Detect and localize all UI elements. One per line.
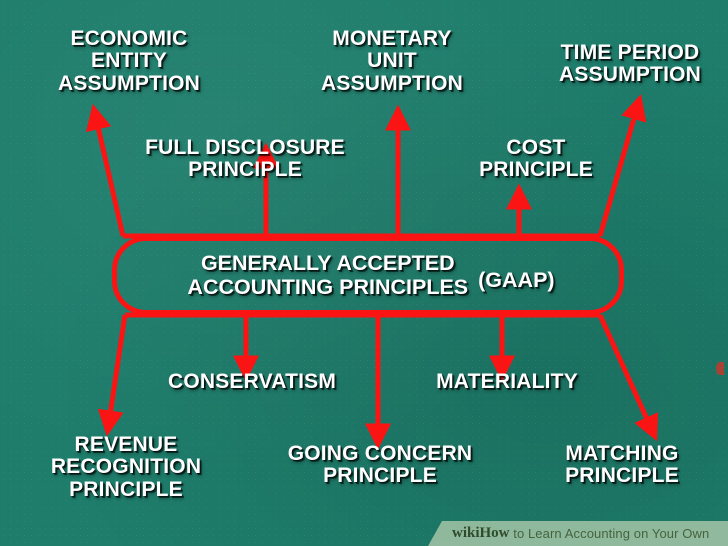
node-matching-principle: MATCHING PRINCIPLE bbox=[565, 443, 679, 488]
gaap-center-box-content: GENERALLY ACCEPTED ACCOUNTING PRINCIPLES… bbox=[112, 236, 624, 315]
wikihow-brand: wikiHow bbox=[452, 525, 510, 542]
node-going-concern-principle: GOING CONCERN PRINCIPLE bbox=[288, 443, 473, 488]
arrow-to-matching-principle bbox=[600, 315, 651, 428]
wikihow-watermark: wikiHow to Learn Accounting on Your Own bbox=[428, 521, 728, 546]
node-materiality: MATERIALITY bbox=[436, 371, 578, 393]
node-revenue-recognition-principle: REVENUE RECOGNITION PRINCIPLE bbox=[51, 434, 201, 501]
edge-artifact bbox=[716, 362, 724, 375]
gaap-abbreviation: (GAAP) bbox=[478, 268, 554, 293]
gaap-title: GENERALLY ACCEPTED ACCOUNTING PRINCIPLES bbox=[187, 252, 468, 299]
gaap-diagram-canvas: ECONOMIC ENTITY ASSUMPTION MONETARY UNIT… bbox=[0, 0, 728, 546]
arrow-to-economic-entity bbox=[96, 118, 123, 236]
node-time-period-assumption: TIME PERIOD ASSUMPTION bbox=[559, 42, 701, 87]
arrow-to-revenue-recognition bbox=[109, 315, 125, 422]
node-monetary-unit-assumption: MONETARY UNIT ASSUMPTION bbox=[321, 28, 463, 95]
node-economic-entity-assumption: ECONOMIC ENTITY ASSUMPTION bbox=[58, 28, 200, 95]
node-conservatism: CONSERVATISM bbox=[168, 371, 336, 393]
arrow-to-time-period bbox=[600, 108, 637, 236]
node-full-disclosure-principle: FULL DISCLOSURE PRINCIPLE bbox=[145, 137, 345, 182]
wikihow-tagline: to Learn Accounting on Your Own bbox=[510, 526, 710, 541]
node-cost-principle: COST PRINCIPLE bbox=[479, 137, 593, 182]
